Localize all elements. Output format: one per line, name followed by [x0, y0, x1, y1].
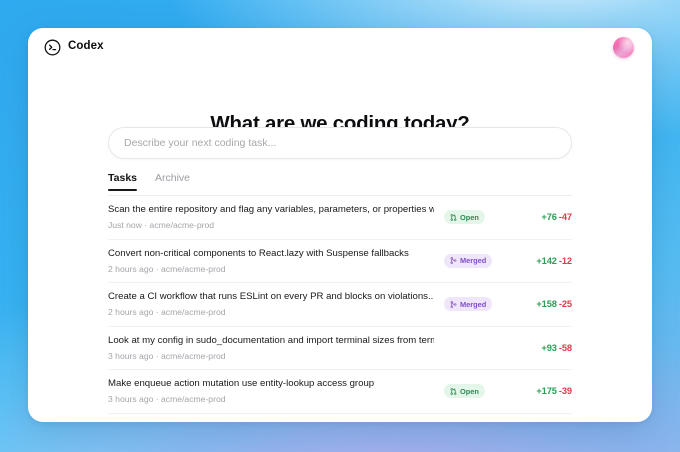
task-title: Make enqueue action mutation use entity-… [108, 378, 434, 390]
task-row[interactable]: Scan the entire repository and flag any … [108, 196, 572, 240]
diff-deletions: -25 [559, 299, 572, 309]
diff-deletions: -58 [559, 343, 572, 353]
task-row[interactable]: Convert non-critical components to React… [108, 240, 572, 284]
status-badge-label: Open [460, 388, 479, 395]
prompt-input[interactable] [108, 127, 572, 159]
diff-additions: +158 [536, 299, 557, 309]
status-badge[interactable]: Merged [444, 297, 492, 311]
terminal-prompt-circle-icon [44, 39, 61, 56]
task-main: Create a CI workflow that runs ESLint on… [108, 291, 444, 317]
task-diff: +175-39 [516, 386, 572, 396]
task-title: Create a CI workflow that runs ESLint on… [108, 291, 434, 303]
status-badge-label: Open [460, 214, 479, 221]
task-list: Scan the entire repository and flag any … [108, 196, 572, 414]
task-main: Convert non-critical components to React… [108, 248, 444, 274]
task-main: Scan the entire repository and flag any … [108, 204, 444, 230]
status-badge[interactable]: Merged [444, 254, 492, 268]
task-title: Scan the entire repository and flag any … [108, 204, 434, 216]
task-tabs: Tasks Archive [108, 173, 572, 196]
task-meta: 3 hours ago · acme/acme-prod [108, 394, 434, 404]
task-title: Look at my config in sudo_documentation … [108, 335, 434, 347]
task-status: Merged [444, 297, 516, 311]
task-diff: +93-58 [516, 343, 572, 353]
task-main: Make enqueue action mutation use entity-… [108, 378, 444, 404]
diff-deletions: -39 [559, 386, 572, 396]
tab-archive[interactable]: Archive [155, 173, 190, 190]
tab-tasks[interactable]: Tasks [108, 173, 137, 190]
diff-additions: +76 [541, 212, 556, 222]
diff-additions: +142 [536, 256, 557, 266]
task-row[interactable]: Make enqueue action mutation use entity-… [108, 370, 572, 414]
diff-additions: +175 [536, 386, 557, 396]
task-status: Open [444, 384, 516, 398]
status-badge[interactable]: Open [444, 384, 485, 398]
task-meta: 3 hours ago · acme/acme-prod [108, 351, 434, 361]
app-topbar: Codex [28, 28, 652, 66]
task-meta: 2 hours ago · acme/acme-prod [108, 307, 434, 317]
avatar[interactable] [613, 37, 634, 58]
task-diff: +158-25 [516, 299, 572, 309]
task-meta: Just now · acme/acme-prod [108, 220, 434, 230]
brand-name-label: Codex [68, 41, 104, 53]
diff-deletions: -12 [559, 256, 572, 266]
status-badge-label: Merged [460, 301, 486, 308]
status-badge-label: Merged [460, 257, 486, 264]
task-diff: +142-12 [516, 256, 572, 266]
task-title: Convert non-critical components to React… [108, 248, 434, 260]
git-pull-request-icon [450, 388, 457, 395]
prompt-input-wrapper [108, 127, 572, 159]
git-merge-icon [450, 257, 457, 264]
task-row[interactable]: Create a CI workflow that runs ESLint on… [108, 283, 572, 327]
brand-logo-group[interactable]: Codex [44, 36, 104, 58]
git-merge-icon [450, 301, 457, 308]
status-badge[interactable]: Open [444, 210, 485, 224]
task-status: Merged [444, 254, 516, 268]
task-meta: 2 hours ago · acme/acme-prod [108, 264, 434, 274]
app-window-card: Codex What are we coding today? Tasks Ar… [28, 28, 652, 422]
git-pull-request-icon [450, 214, 457, 221]
task-diff: +76-47 [516, 212, 572, 222]
task-row[interactable]: Look at my config in sudo_documentation … [108, 327, 572, 371]
task-main: Look at my config in sudo_documentation … [108, 335, 444, 361]
task-status: Open [444, 210, 516, 224]
diff-additions: +93 [541, 343, 556, 353]
diff-deletions: -47 [559, 212, 572, 222]
